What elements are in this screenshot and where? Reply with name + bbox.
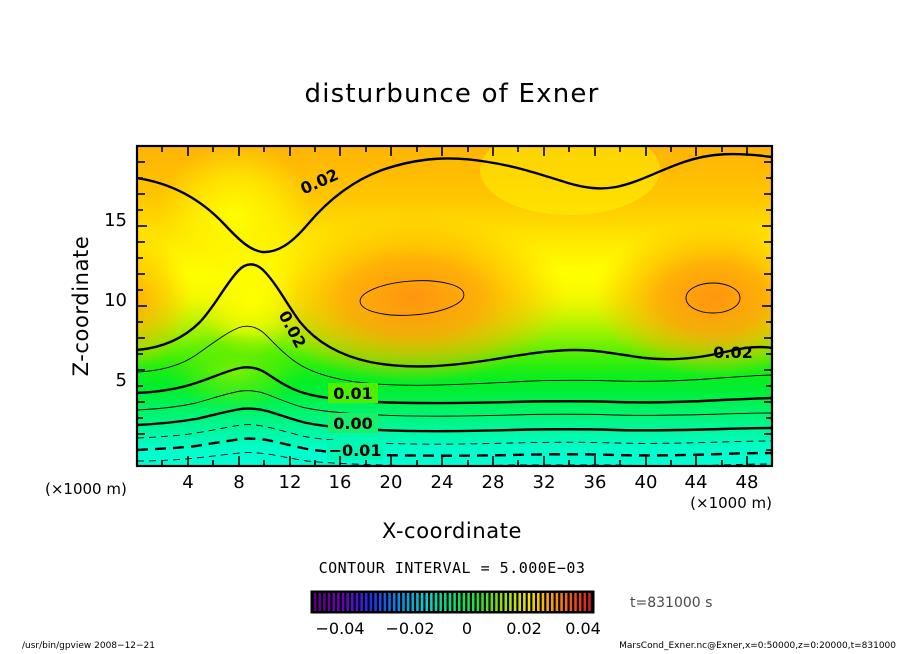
x-tick-label: 12	[279, 472, 302, 493]
footer-right: MarsCond_Exner.nc@Exner,x=0:50000,z=0:20…	[619, 641, 896, 651]
colorbar-stripe	[421, 593, 424, 611]
x-tick-label: 16	[329, 472, 352, 493]
contour-label--0.01: −0.01	[329, 441, 382, 460]
colorbar-stripe	[374, 593, 377, 611]
colorbar-stripe	[449, 593, 452, 611]
colorbar-stripe	[560, 593, 563, 611]
colorbar-stripe	[411, 593, 414, 611]
colorbar-stripe	[337, 593, 340, 611]
x-tick-label: 20	[380, 472, 403, 493]
colorbar-tick-label: 0	[462, 619, 472, 638]
colorbar-stripe	[351, 593, 354, 611]
colorbar-stripe	[458, 593, 461, 611]
colorbar-stripe	[472, 593, 475, 611]
colorbar-stripe	[332, 593, 335, 611]
y-tick-label: 5	[116, 370, 127, 391]
colorbar-stripe	[518, 593, 521, 611]
colorbar-stripe	[346, 593, 349, 611]
colorbar-tick-label: −0.02	[385, 619, 434, 638]
colorbar-stripe	[463, 593, 466, 611]
colorbar-tick-label: 0.04	[565, 619, 601, 638]
colorbar-stripe	[435, 593, 438, 611]
colorbar-stripe	[323, 593, 326, 611]
colorbar-stripe	[439, 593, 442, 611]
page-title: disturbunce of Exner	[305, 79, 600, 109]
colorbar-stripe	[509, 593, 512, 611]
x-tick-label: 8	[233, 472, 244, 493]
colorbar-stripe	[584, 593, 587, 611]
colorbar-stripe	[444, 593, 447, 611]
colorbar-stripe	[551, 593, 554, 611]
colorbar-stripe	[570, 593, 573, 611]
y-axis-title: Z-coordinate	[69, 236, 93, 377]
contour-label-0.01: 0.01	[333, 384, 372, 403]
colorbar-stripe	[453, 593, 456, 611]
y-tick-label: 15	[104, 210, 127, 231]
colorbar-stripe	[356, 593, 359, 611]
colorbar-stripe	[360, 593, 363, 611]
y-tick-label: 10	[104, 290, 127, 311]
field-green-bump	[165, 332, 305, 412]
x-tick-label: 24	[431, 472, 454, 493]
colorbar-stripe	[546, 593, 549, 611]
colorbar-stripe	[398, 593, 401, 611]
colorbar-stripe	[477, 593, 480, 611]
colorbar-stripe	[574, 593, 577, 611]
x-tick-label: 32	[533, 472, 556, 493]
footer-left: /usr/bin/gpview 2008−12−21	[22, 641, 155, 651]
contour-label-0.00: 0.00	[333, 414, 372, 433]
colorbar-stripe	[416, 593, 419, 611]
colorbar-stripe	[407, 593, 410, 611]
colorbar-stripe	[528, 593, 531, 611]
x-tick-label: 28	[482, 472, 505, 493]
colorbar-stripe	[514, 593, 517, 611]
colorbar-stripe	[430, 593, 433, 611]
x-tick-label: 44	[685, 472, 708, 493]
colorbar-stripe	[365, 593, 368, 611]
colorbar-stripe	[504, 593, 507, 611]
time-label: t=831000 s	[630, 595, 712, 611]
colorbar-stripe	[542, 593, 545, 611]
colorbar-stripe	[370, 593, 373, 611]
colorbar-stripe	[328, 593, 331, 611]
colorbar-stripe	[314, 593, 317, 611]
colorbar-stripe	[537, 593, 540, 611]
colorbar-stripe	[342, 593, 345, 611]
x-tick-label: 4	[182, 472, 193, 493]
colorbar-stripe	[388, 593, 391, 611]
contour-interval-caption: CONTOUR INTERVAL = 5.000E−03	[319, 559, 586, 577]
y-axis-unit-label: (×1000 m)	[45, 480, 127, 498]
contour-label-0.02-right: 0.02	[713, 343, 752, 362]
colorbar-stripe	[486, 593, 489, 611]
colorbar-stripe	[467, 593, 470, 611]
colorbar-stripe	[579, 593, 582, 611]
colorbar-tick-label: 0.02	[506, 619, 542, 638]
x-axis-title: X-coordinate	[382, 519, 522, 543]
colorbar-stripe	[402, 593, 405, 611]
colorbar-stripe	[393, 593, 396, 611]
colorbar-stripe	[565, 593, 568, 611]
colorbar-stripe	[425, 593, 428, 611]
x-tick-label: 48	[736, 472, 759, 493]
colorbar-tick-label: −0.04	[315, 619, 364, 638]
x-tick-label: 40	[635, 472, 658, 493]
contour-plot-area: 0.02 0.02 0.02 0.01 0.00 −0.01	[73, 125, 833, 466]
colorbar-stripe	[481, 593, 484, 611]
colorbar-stripe	[500, 593, 503, 611]
gpview-figure: disturbunce of Exner	[0, 0, 904, 654]
colorbar-stripe	[588, 593, 591, 611]
colorbar-stripe	[384, 593, 387, 611]
x-axis-unit-label: (×1000 m)	[690, 494, 772, 512]
colorbar-stripe	[495, 593, 498, 611]
colorbar-stripe	[379, 593, 382, 611]
colorbar-stripe	[318, 593, 321, 611]
colorbar-stripe	[491, 593, 494, 611]
colorbar-stripe	[556, 593, 559, 611]
colorbar-stripe	[523, 593, 526, 611]
x-tick-label: 36	[584, 472, 607, 493]
colorbar-stripe	[532, 593, 535, 611]
